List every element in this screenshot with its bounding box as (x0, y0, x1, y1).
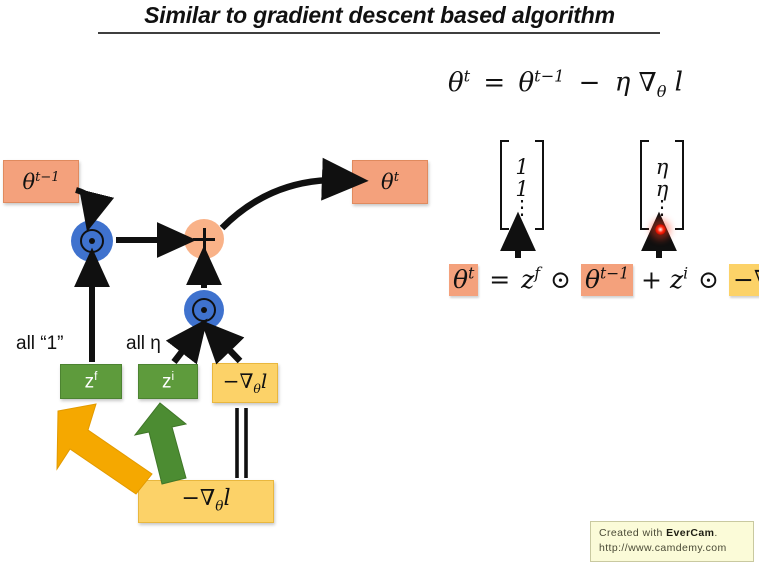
theta-t-box: θt (352, 160, 428, 204)
bracket-left-etas (640, 140, 649, 230)
zi-box: zi (138, 364, 198, 399)
odot-icon (80, 229, 104, 253)
grad-box-top: −∇θl (212, 363, 278, 403)
grad-box-bottom-label: −∇θl (181, 488, 230, 514)
zi-box-label: zi (162, 370, 174, 393)
theta-t-box-label: θt (381, 171, 399, 193)
lstm-eq-plus: + (641, 265, 662, 294)
arrow-add-to-thetat (222, 180, 344, 228)
lstm-eq-neg-grad: −∇θl (729, 264, 759, 296)
ones-ellipsis: ⋮ (512, 200, 532, 214)
forget-gate-node (71, 220, 113, 262)
zf-box-label: zf (85, 370, 98, 393)
lstm-eq-theta-prev: θt−1 (581, 264, 633, 296)
arrow-grad-to-input (216, 336, 240, 361)
input-gate-node (184, 290, 224, 330)
plus-icon (193, 228, 215, 250)
grad-box-bottom: −∇θl (138, 480, 274, 523)
evercam-watermark: Created with EverCam. http://www.camdemy… (590, 521, 754, 562)
top-eq-loss: l (675, 68, 683, 98)
theta-prev-box: θt−1 (3, 160, 79, 203)
ones-vector-entries: 1 1 ⋮ (509, 140, 535, 230)
top-eq-equals: = (483, 68, 505, 98)
title-underline (98, 32, 660, 34)
odot-icon (192, 298, 216, 322)
laser-pointer-cursor (655, 224, 666, 235)
label-all-ones: all “1” (16, 333, 64, 355)
add-node (184, 219, 224, 259)
arrow-zi-to-input (174, 336, 194, 362)
lstm-eq-equals: = (489, 265, 510, 294)
lstm-equation: θt = zf ⊙ θt−1 + zi ⊙ −∇θl (449, 267, 759, 298)
slide-canvas: Similar to gradient descent based algori… (0, 0, 759, 563)
etas-vector-entries: η η ⋮ (649, 140, 675, 230)
theta-prev-box-label: θt−1 (22, 171, 59, 193)
bracket-left-ones (500, 140, 509, 230)
grad-box-top-label: −∇θl (223, 371, 268, 395)
eta-entry-1: η (656, 156, 669, 178)
top-eq-eta: η (615, 68, 631, 98)
top-equation: θt = θt−1 − η ∇θ l (448, 68, 683, 100)
lstm-eq-zf: zf (521, 265, 540, 294)
lstm-eq-odot-2: ⊙ (698, 265, 719, 294)
ones-vector: 1 1 ⋮ (500, 140, 544, 230)
ones-entry-1: 1 (515, 156, 528, 178)
top-eq-theta-t: θt (448, 68, 470, 98)
lstm-eq-theta-t: θt (449, 264, 478, 296)
zf-box: zf (60, 364, 122, 399)
block-arrow-to-zi (135, 403, 186, 484)
top-eq-nabla: ∇θ (639, 68, 667, 98)
bracket-right-etas (675, 140, 684, 230)
etas-ellipsis: ⋮ (652, 200, 672, 214)
label-all-eta: all η (126, 333, 161, 355)
watermark-line-2: http://www.camdemy.com (599, 541, 746, 556)
etas-vector: η η ⋮ (640, 140, 684, 230)
watermark-line-1: Created with EverCam. (599, 526, 746, 541)
lstm-eq-odot-1: ⊙ (550, 265, 571, 294)
top-eq-theta-prev: θt−1 (518, 68, 564, 98)
bracket-right-ones (535, 140, 544, 230)
top-eq-minus: − (579, 68, 601, 98)
page-title: Similar to gradient descent based algori… (0, 2, 759, 29)
lstm-eq-zi: zi (670, 265, 688, 294)
